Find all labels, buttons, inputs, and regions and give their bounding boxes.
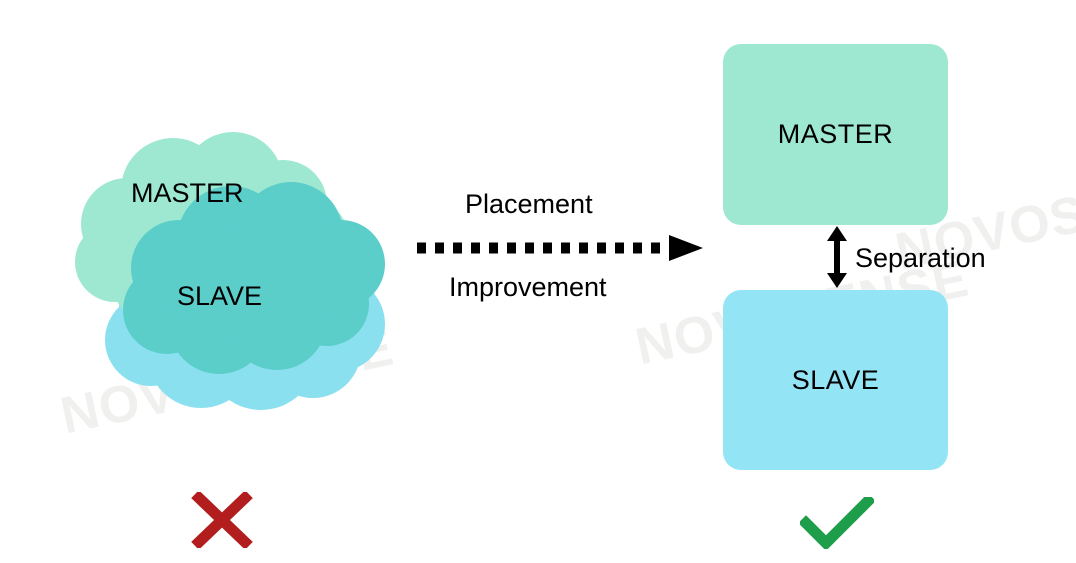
- overlapping-clouds-group: [55, 128, 415, 418]
- separation-label: Separation: [855, 243, 986, 274]
- box-slave-label: SLAVE: [792, 365, 880, 396]
- transition-group: Placement Improvement: [415, 180, 705, 320]
- transition-label-improvement: Improvement: [449, 272, 607, 303]
- cloud-label-slave: SLAVE: [177, 281, 262, 312]
- box-master: MASTER: [723, 44, 948, 225]
- diagram-canvas: NOVOSENSE NOVOSENSE NOVOSENSE: [0, 0, 1076, 563]
- box-slave: SLAVE: [723, 290, 948, 470]
- check-icon: [800, 497, 874, 549]
- cross-icon: [191, 492, 253, 548]
- transition-label-placement: Placement: [465, 189, 593, 220]
- double-arrow-vertical-icon: [822, 226, 852, 288]
- cloud-label-master: MASTER: [131, 178, 244, 209]
- box-master-label: MASTER: [778, 119, 894, 150]
- dashed-arrow-right-icon: [415, 235, 705, 261]
